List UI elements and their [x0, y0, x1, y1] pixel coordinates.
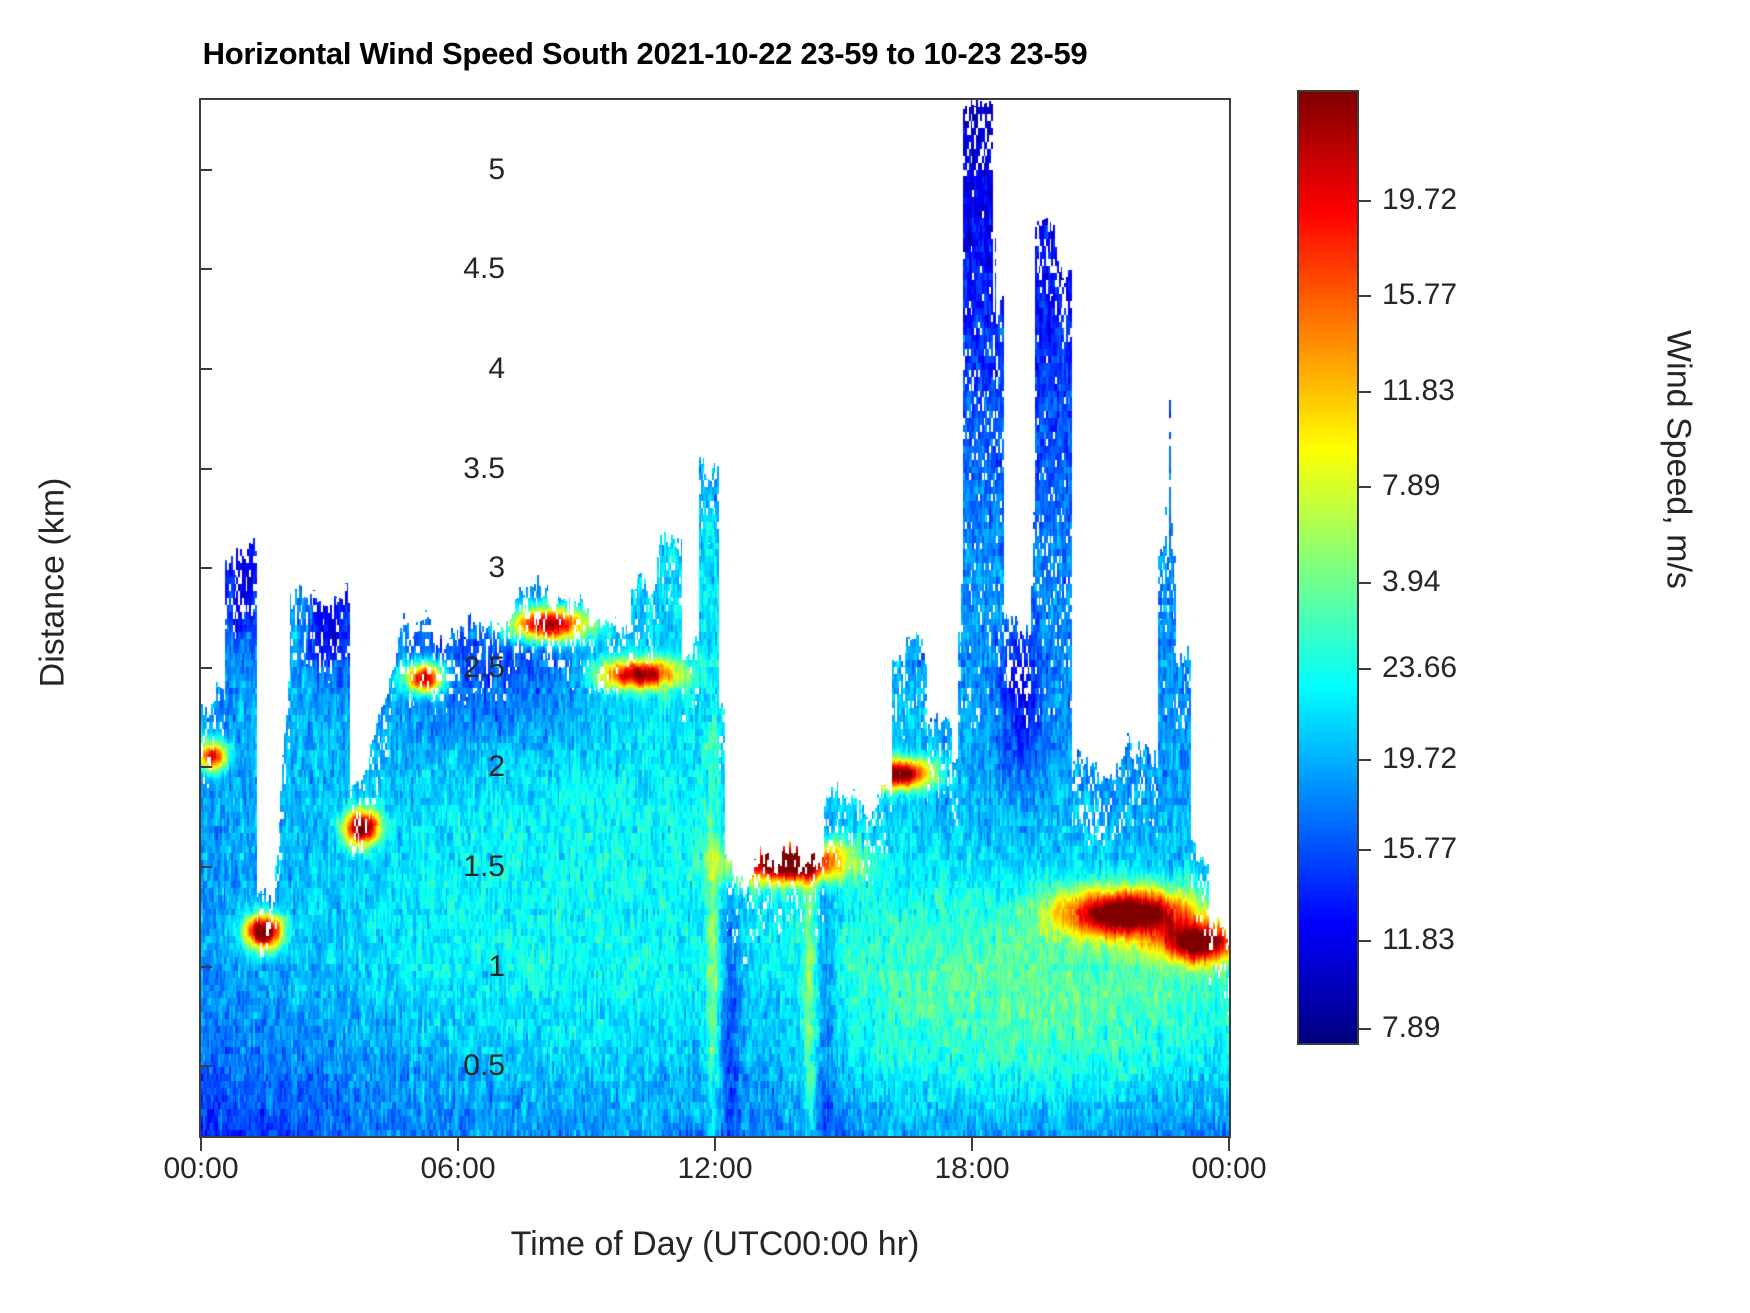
- y-tick-label: 4: [488, 352, 505, 386]
- y-tick-mark: [199, 368, 212, 370]
- y-tick-label: 2: [488, 750, 505, 784]
- colorbar-gradient: [1297, 90, 1359, 1045]
- y-tick-mark: [199, 667, 212, 669]
- colorbar-tick-mark: [1359, 391, 1371, 393]
- page-title: Horizontal Wind Speed South 2021-10-22 2…: [0, 36, 1290, 72]
- colorbar-tick-label: 3.94: [1382, 565, 1440, 599]
- colorbar-tick-label: 11.83: [1382, 923, 1455, 957]
- colorbar-tick-label: 7.89: [1382, 469, 1440, 503]
- x-tick-mark: [457, 1138, 459, 1151]
- colorbar-tick-label: 7.89: [1382, 1011, 1440, 1045]
- colorbar-tick-mark: [1359, 1028, 1371, 1030]
- y-tick-mark: [199, 468, 212, 470]
- colorbar-tick-label: 15.77: [1382, 832, 1457, 866]
- colorbar-tick-label: 15.77: [1382, 278, 1457, 312]
- y-tick-label: 3.5: [463, 452, 505, 486]
- colorbar: [1297, 90, 1359, 1045]
- y-tick-label: 1.5: [463, 850, 505, 884]
- y-tick-mark: [199, 567, 212, 569]
- x-tick-mark: [200, 1138, 202, 1151]
- y-tick-label: 2.5: [463, 651, 505, 685]
- colorbar-tick-label: 19.72: [1382, 742, 1457, 776]
- y-tick-mark: [199, 966, 212, 968]
- x-tick-label: 00:00: [163, 1152, 238, 1186]
- y-tick-mark: [199, 766, 212, 768]
- x-tick-label: 18:00: [934, 1152, 1009, 1186]
- y-tick-label: 5: [488, 153, 505, 187]
- colorbar-tick-mark: [1359, 486, 1371, 488]
- colorbar-tick-label: 19.72: [1382, 183, 1457, 217]
- y-tick-label: 4.5: [463, 252, 505, 286]
- x-tick-mark: [1228, 1138, 1230, 1151]
- x-tick-label: 06:00: [420, 1152, 495, 1186]
- colorbar-tick-label: 11.83: [1382, 374, 1455, 408]
- y-tick-label: 1: [488, 950, 505, 984]
- colorbar-tick-mark: [1359, 295, 1371, 297]
- x-tick-mark: [714, 1138, 716, 1151]
- y-tick-mark: [199, 268, 212, 270]
- y-tick-mark: [199, 1065, 212, 1067]
- y-tick-mark: [199, 169, 212, 171]
- x-tick-mark: [971, 1138, 973, 1151]
- colorbar-tick-label: 23.66: [1382, 651, 1457, 685]
- heatmap-plot-area: [199, 98, 1231, 1138]
- x-tick-label: 12:00: [677, 1152, 752, 1186]
- colorbar-tick-mark: [1359, 849, 1371, 851]
- x-tick-label: 00:00: [1191, 1152, 1266, 1186]
- colorbar-tick-mark: [1359, 582, 1371, 584]
- heatmap-image: [201, 100, 1229, 1136]
- colorbar-title: Wind Speed, m/s: [1659, 295, 1698, 625]
- y-axis-title: Distance (km): [34, 418, 73, 748]
- colorbar-tick-mark: [1359, 668, 1371, 670]
- colorbar-tick-mark: [1359, 940, 1371, 942]
- y-tick-mark: [199, 866, 212, 868]
- colorbar-tick-mark: [1359, 759, 1371, 761]
- y-tick-label: 3: [488, 551, 505, 585]
- colorbar-tick-mark: [1359, 200, 1371, 202]
- y-tick-label: 0.5: [463, 1049, 505, 1083]
- x-axis-title: Time of Day (UTC00:00 hr): [199, 1225, 1231, 1264]
